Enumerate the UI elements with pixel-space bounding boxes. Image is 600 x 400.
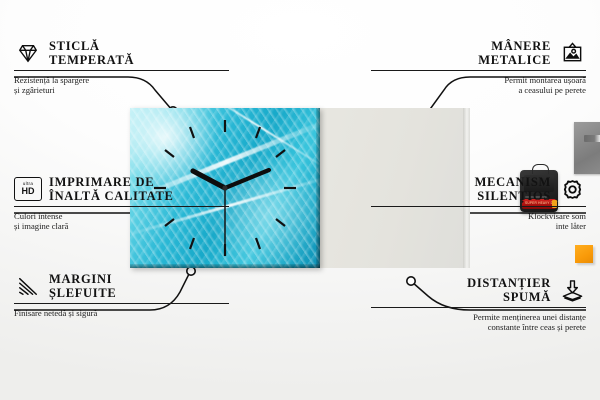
movement-hook [532, 164, 549, 174]
ultra-hd-icon: ultra HD [14, 175, 42, 203]
feature-subtitle: Permite menținerea unei distanțe constan… [371, 312, 586, 333]
feature-divider [371, 307, 586, 308]
feature-title: STICLĂ TEMPERATĂ [49, 39, 134, 67]
feature-header: MÂNERE METALICE [371, 38, 586, 68]
marker-10 [165, 150, 174, 157]
feature-title: MECANISM SILENȚIOS [475, 175, 551, 203]
marker-1 [256, 127, 260, 138]
feature-metal-handles: MÂNERE METALICE Permit montarea ușoară a… [371, 38, 586, 96]
marker-11 [190, 127, 194, 138]
feature-high-quality-print: ultra HD IMPRIMARE DE ÎNALTĂ CALITATE Cu… [14, 174, 229, 232]
feature-header: MECANISM SILENȚIOS [371, 174, 586, 204]
feature-silent-mechanism: MECANISM SILENȚIOS Klockvisare som inte … [371, 174, 586, 232]
feature-foam-spacer: DISTANȚIER SPUMĂ Permite menținerea unei… [371, 275, 586, 333]
feature-subtitle: Rezistență la spargere și zgârieturi [14, 75, 229, 96]
ultra-hd-main-text: HD [22, 187, 35, 196]
feature-title: IMPRIMARE DE ÎNALTĂ CALITATE [49, 175, 174, 203]
metal-hanger-plate [574, 122, 600, 174]
marker-4 [276, 219, 285, 226]
feature-title: MÂNERE METALICE [478, 39, 551, 67]
infographic-canvas: SUPER HEAVY DUTY [0, 0, 600, 400]
feature-header: ultra HD IMPRIMARE DE ÎNALTĂ CALITATE [14, 174, 229, 204]
foam-spacer-icon [558, 276, 586, 304]
hanger-slot [584, 135, 600, 142]
gear-icon [558, 175, 586, 203]
feature-title: MARGINI ȘLEFUITE [49, 272, 116, 300]
feature-header: STICLĂ TEMPERATĂ [14, 38, 229, 68]
feature-divider [14, 206, 229, 207]
feature-header: DISTANȚIER SPUMĂ [371, 275, 586, 305]
picture-frame-icon [558, 39, 586, 67]
feature-subtitle: Permit montarea ușoară a ceasului pe per… [371, 75, 586, 96]
feature-subtitle: Finisare netedă și sigură [14, 308, 229, 318]
feature-header: MARGINI ȘLEFUITE [14, 271, 229, 301]
feature-title: DISTANȚIER SPUMĂ [467, 276, 551, 304]
feature-subtitle: Klockvisare som inte låter [371, 211, 586, 232]
feature-divider [371, 206, 586, 207]
marker-2 [276, 150, 285, 157]
minute-hand [225, 170, 269, 188]
feature-polished-edges: MARGINI ȘLEFUITE Finisare netedă și sigu… [14, 271, 229, 318]
marker-5 [256, 238, 260, 249]
beveled-edge-icon [14, 272, 42, 300]
diamond-icon [14, 39, 42, 67]
foam-spacer-block [575, 245, 593, 263]
marker-7 [190, 238, 194, 249]
glass-right-edge [316, 108, 320, 268]
feature-subtitle: Culori intense și imagine clară [14, 211, 229, 232]
feature-divider [14, 303, 229, 304]
feature-divider [371, 70, 586, 71]
glass-bottom-edge [130, 264, 320, 268]
feature-divider [14, 70, 229, 71]
feature-tempered-glass: STICLĂ TEMPERATĂ Rezistență la spargere … [14, 38, 229, 96]
